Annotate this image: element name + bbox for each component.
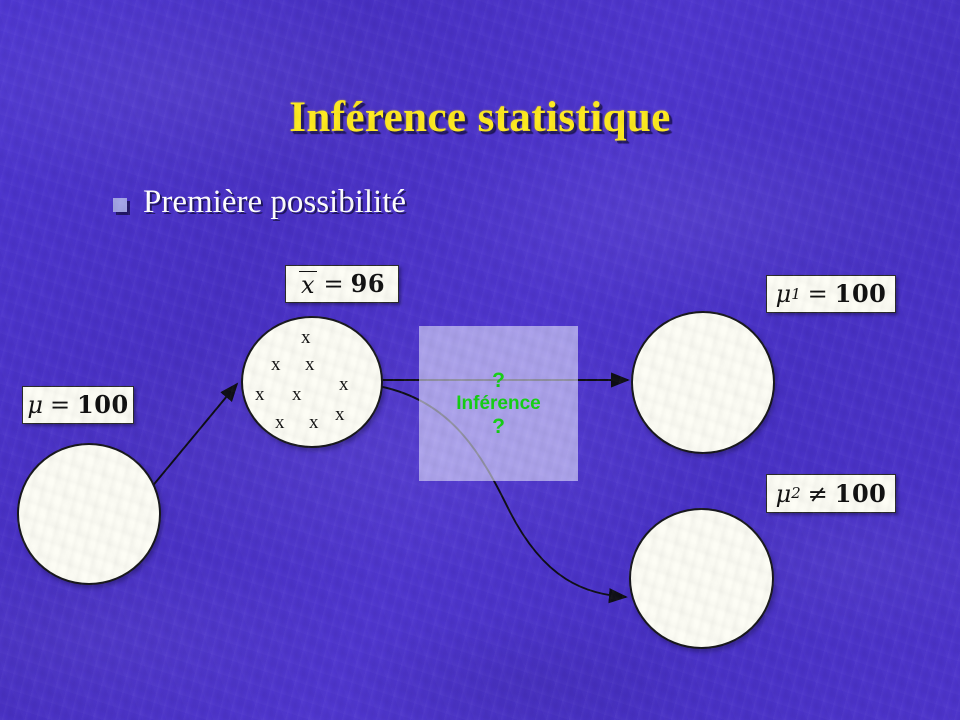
- hypothesis-2-formula-box: μ2≠100: [766, 474, 896, 513]
- slide-canvas: Inférence statistique Première possibili…: [0, 0, 960, 720]
- page-title: Inférence statistique: [0, 93, 960, 142]
- equals-operator: =: [50, 393, 70, 417]
- observation-mark: x: [292, 385, 302, 404]
- observation-mark: x: [339, 375, 349, 394]
- observation-mark: x: [301, 328, 311, 347]
- hypothesis-1-circle[interactable]: [631, 311, 775, 454]
- sample-mean-value: 96: [351, 272, 385, 296]
- sample-circle[interactable]: x x x x x x x x x: [241, 316, 383, 448]
- inference-question-top: ?: [492, 370, 505, 391]
- bullet-item-label: Première possibilité: [143, 184, 406, 221]
- hypothesis-1-formula-box: μ1=100: [766, 275, 896, 313]
- inference-question-bottom: ?: [492, 416, 505, 437]
- square-bullet-icon: [113, 198, 127, 212]
- observation-mark: x: [255, 385, 265, 404]
- mu-symbol: μ: [27, 393, 43, 417]
- observation-mark: x: [335, 405, 345, 424]
- hypothesis-1-value: 100: [835, 282, 887, 306]
- population-mean-value: 100: [77, 393, 129, 417]
- hypothesis-2-value: 100: [835, 482, 887, 506]
- observation-mark: x: [271, 355, 281, 374]
- inference-label: Inférence: [456, 393, 540, 415]
- population-mean-formula-box: μ=100: [22, 386, 134, 424]
- hypothesis-2-circle[interactable]: [629, 508, 774, 649]
- mu-symbol: μ: [776, 282, 792, 306]
- observation-mark: x: [275, 413, 285, 432]
- equals-operator: =: [808, 282, 828, 306]
- observation-mark-extra: x: [309, 413, 319, 432]
- mu-symbol: μ: [776, 482, 792, 506]
- bullet-list-item: Première possibilité: [113, 184, 406, 221]
- observation-mark: x: [305, 355, 315, 374]
- population-circle[interactable]: [17, 443, 161, 585]
- not-equals-operator: ≠: [808, 482, 828, 506]
- mu-subscript: 2: [791, 486, 800, 501]
- sample-mean-formula-box: x=96: [285, 265, 399, 303]
- mu-subscript: 1: [791, 287, 800, 302]
- x-bar-symbol: x: [299, 271, 317, 297]
- inference-panel: ? Inférence ?: [419, 326, 578, 481]
- equals-operator: =: [324, 272, 344, 296]
